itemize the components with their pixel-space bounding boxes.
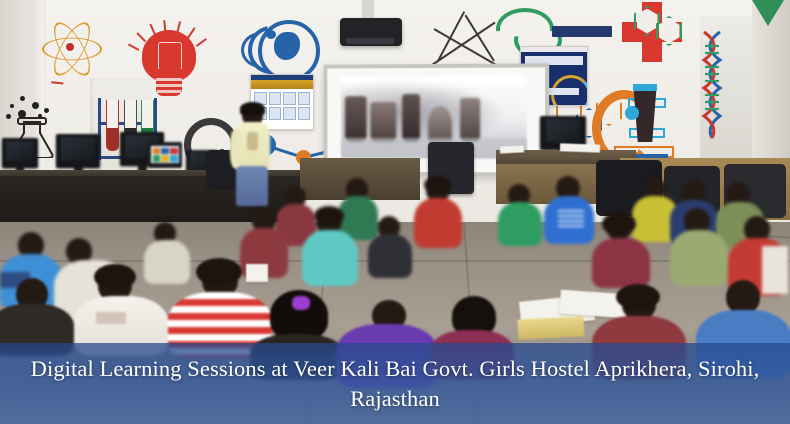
workbook	[518, 316, 585, 339]
photo-with-caption: Digital Learning Sessions at Veer Kali B…	[0, 0, 790, 424]
student	[668, 208, 730, 286]
papers-on-desk	[500, 145, 524, 153]
hair-clip	[292, 296, 310, 310]
green-triangle-mural	[752, 0, 784, 26]
caption-string: Digital Learning Sessions at Veer Kali B…	[18, 354, 772, 414]
student	[300, 208, 360, 286]
papers-on-desk	[560, 143, 600, 152]
tshirt-print	[558, 210, 584, 228]
monitor	[2, 138, 38, 168]
instructor	[226, 104, 276, 204]
student	[366, 216, 414, 278]
globe-mural	[244, 18, 316, 80]
student	[496, 184, 544, 246]
student	[410, 178, 466, 248]
student	[590, 214, 652, 288]
tablet-display	[148, 142, 182, 168]
navy-dash-mural	[552, 26, 612, 37]
microscope-mural	[592, 72, 684, 160]
tshirt-print	[96, 312, 126, 324]
monitor	[56, 134, 100, 168]
student-blue-shirt	[542, 176, 596, 244]
caption-text: Digital Learning Sessions at Veer Kali B…	[0, 343, 790, 424]
student	[0, 278, 74, 352]
atom-symbol-mural	[42, 22, 98, 72]
wall-corner-right	[752, 0, 790, 180]
kurta-embroidery	[247, 132, 258, 150]
caption-overlay: Digital Learning Sessions at Veer Kali B…	[0, 343, 790, 424]
projector-mount	[362, 0, 374, 20]
ceiling-projector	[340, 18, 402, 46]
dna-helix-mural	[692, 30, 732, 140]
dna-helix-icon	[692, 30, 732, 142]
